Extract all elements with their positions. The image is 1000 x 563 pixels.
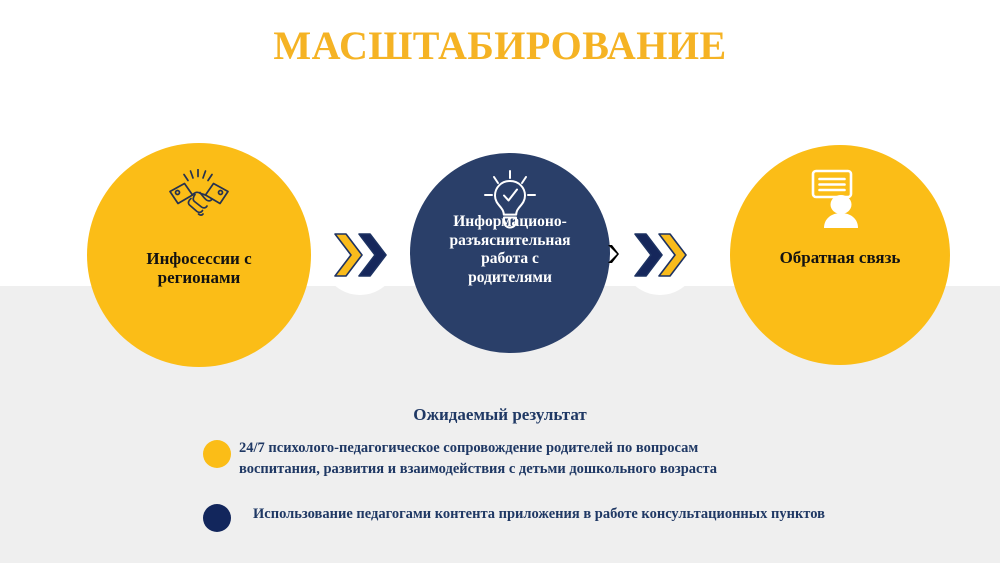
feedback-person-icon [811, 169, 869, 234]
results-heading: Ожидаемый результат [0, 405, 1000, 425]
list-item-text: Использование педагогами контента прилож… [253, 501, 825, 525]
double-chevron-right-icon [332, 231, 388, 284]
bullet-dot-yellow [203, 440, 231, 468]
process-step-3[interactable]: Обратная связь [730, 145, 950, 365]
list-item-text: 24/7 психолого-педагогическое сопровожде… [239, 437, 717, 480]
bullet-dot-navy [203, 504, 231, 532]
handshake-icon [167, 169, 231, 232]
process-step-2[interactable]: Информационо- разъяснительная работа с р… [410, 153, 610, 353]
process-step-1[interactable]: Инфосессии с регионами [87, 143, 311, 367]
process-step-1-label: Инфосессии с регионами [87, 249, 311, 288]
list-item: Использование педагогами контента прилож… [0, 501, 1000, 532]
results-list: 24/7 психолого-педагогическое сопровожде… [0, 437, 1000, 532]
connector-arrow-2 [622, 219, 698, 295]
list-item: 24/7 психолого-педагогическое сопровожде… [0, 437, 1000, 480]
double-chevron-right-icon [632, 231, 688, 284]
chevron-right-icon [606, 244, 620, 264]
slide-canvas: МАСШТАБИРОВАНИЕ [0, 0, 1000, 563]
process-step-2-label: Информационо- разъяснительная работа с р… [410, 213, 610, 287]
connector-arrow-1 [322, 219, 398, 295]
page-title: МАСШТАБИРОВАНИЕ [0, 22, 1000, 69]
process-step-3-label: Обратная связь [730, 248, 950, 267]
